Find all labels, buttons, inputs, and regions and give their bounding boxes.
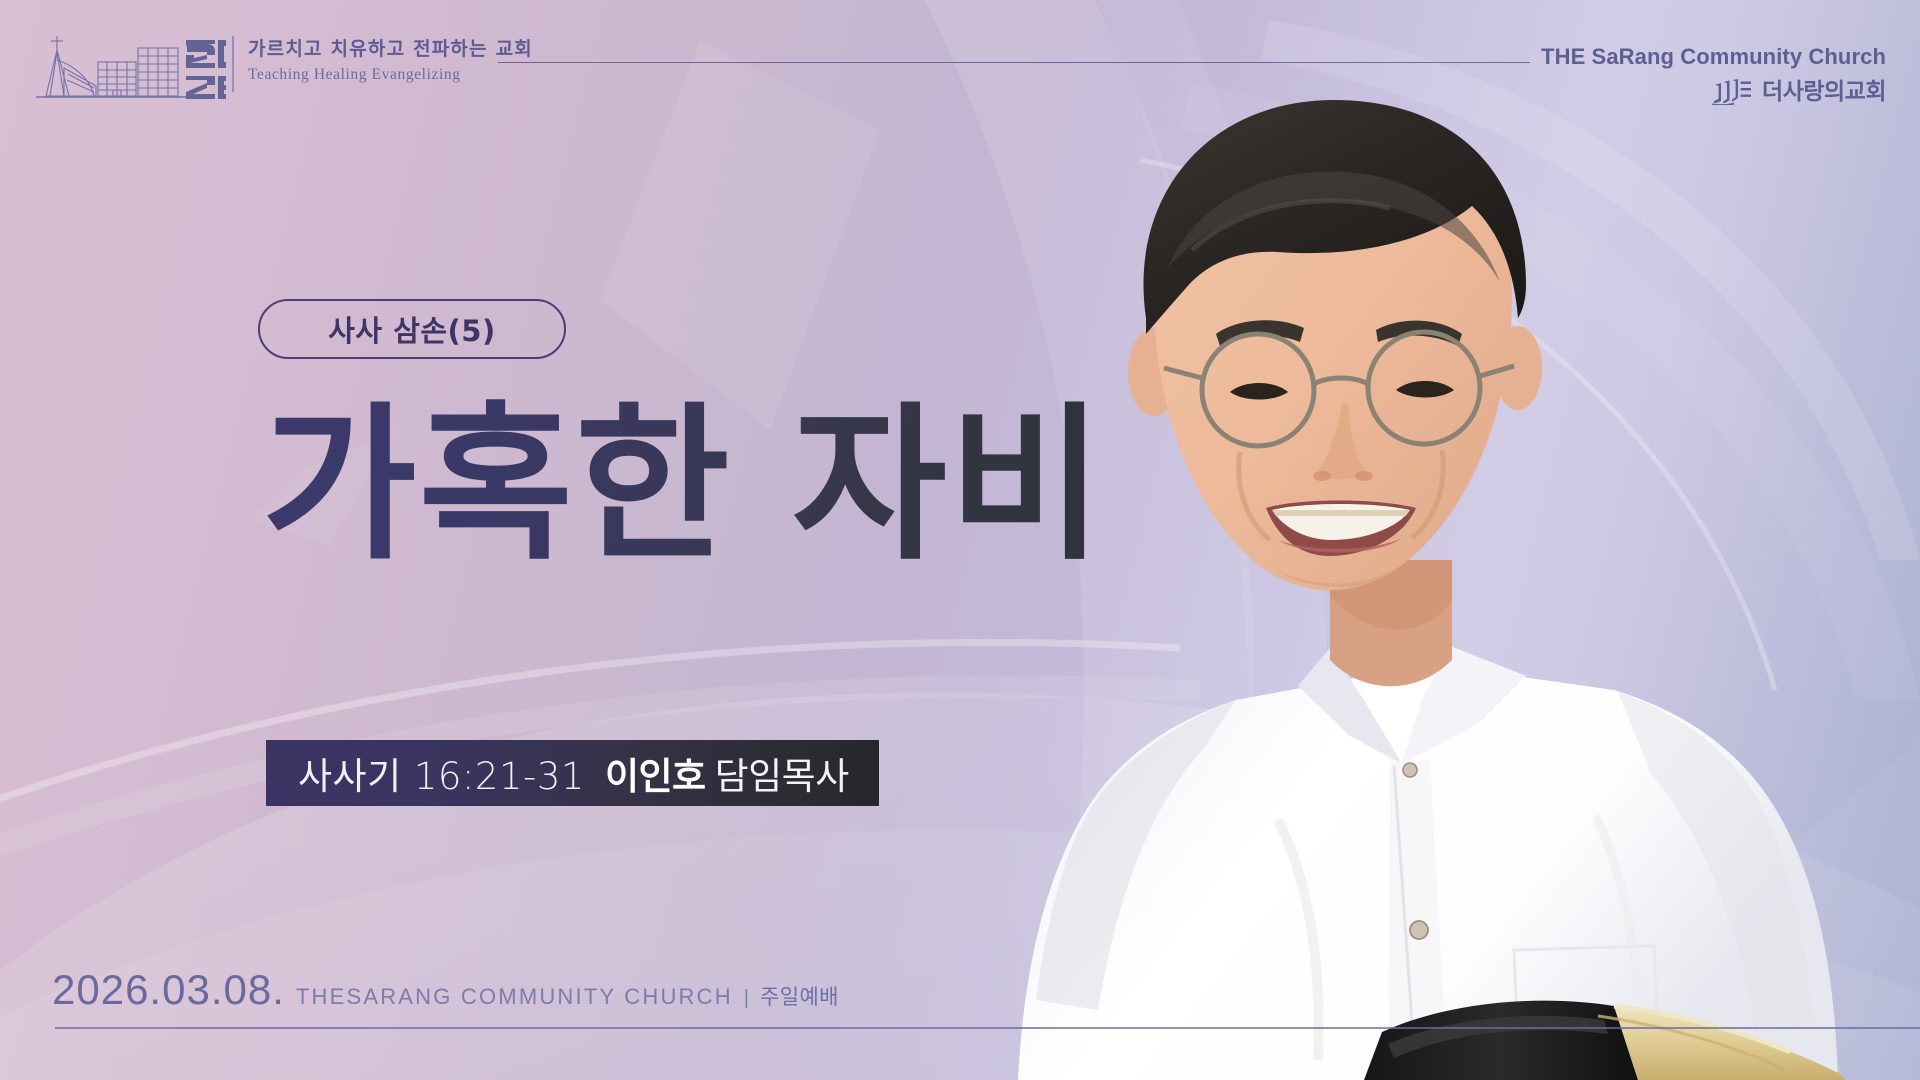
service-date: 2026.03.08. [52, 966, 285, 1014]
pastor-portrait-photo [978, 0, 1920, 1080]
sermon-title-slide: 가르치고 치유하고 전파하는 교회 Teaching Healing Evang… [0, 0, 1920, 1080]
logo-divider [232, 36, 234, 92]
footer-horizontal-rule [55, 1027, 1920, 1029]
scripture-speaker-bar: 사사기 16:21-31 이인호 담임목사 [266, 740, 879, 806]
service-type: 주일예배 [760, 981, 839, 1011]
slogan-block: 가르치고 치유하고 전파하는 교회 Teaching Healing Evang… [248, 36, 533, 86]
scripture-reference: 사사기 16:21-31 [298, 746, 585, 800]
shirt [1018, 646, 1838, 1080]
sermon-title: 가혹한 자비 [262, 390, 1105, 580]
speaker-name: 이인호 [605, 746, 706, 800]
year-2026-logo [34, 30, 226, 102]
series-badge-label: 사사 삼손(5) [328, 308, 496, 350]
speaker-role: 담임목사 [715, 746, 849, 800]
face [1128, 100, 1542, 590]
organization-name: THESARANG COMMUNITY CHURCH [296, 984, 733, 1010]
slide-footer: 2026.03.08. THESARANG COMMUNITY CHURCH |… [52, 966, 839, 1014]
footer-separator: | [744, 987, 749, 1010]
slogan-english: Teaching Healing Evangelizing [248, 64, 533, 86]
slogan-korean: 가르치고 치유하고 전파하는 교회 [248, 36, 533, 62]
sermon-series-badge: 사사 삼손(5) [258, 299, 566, 359]
church-building-skyline-icon [34, 30, 226, 102]
